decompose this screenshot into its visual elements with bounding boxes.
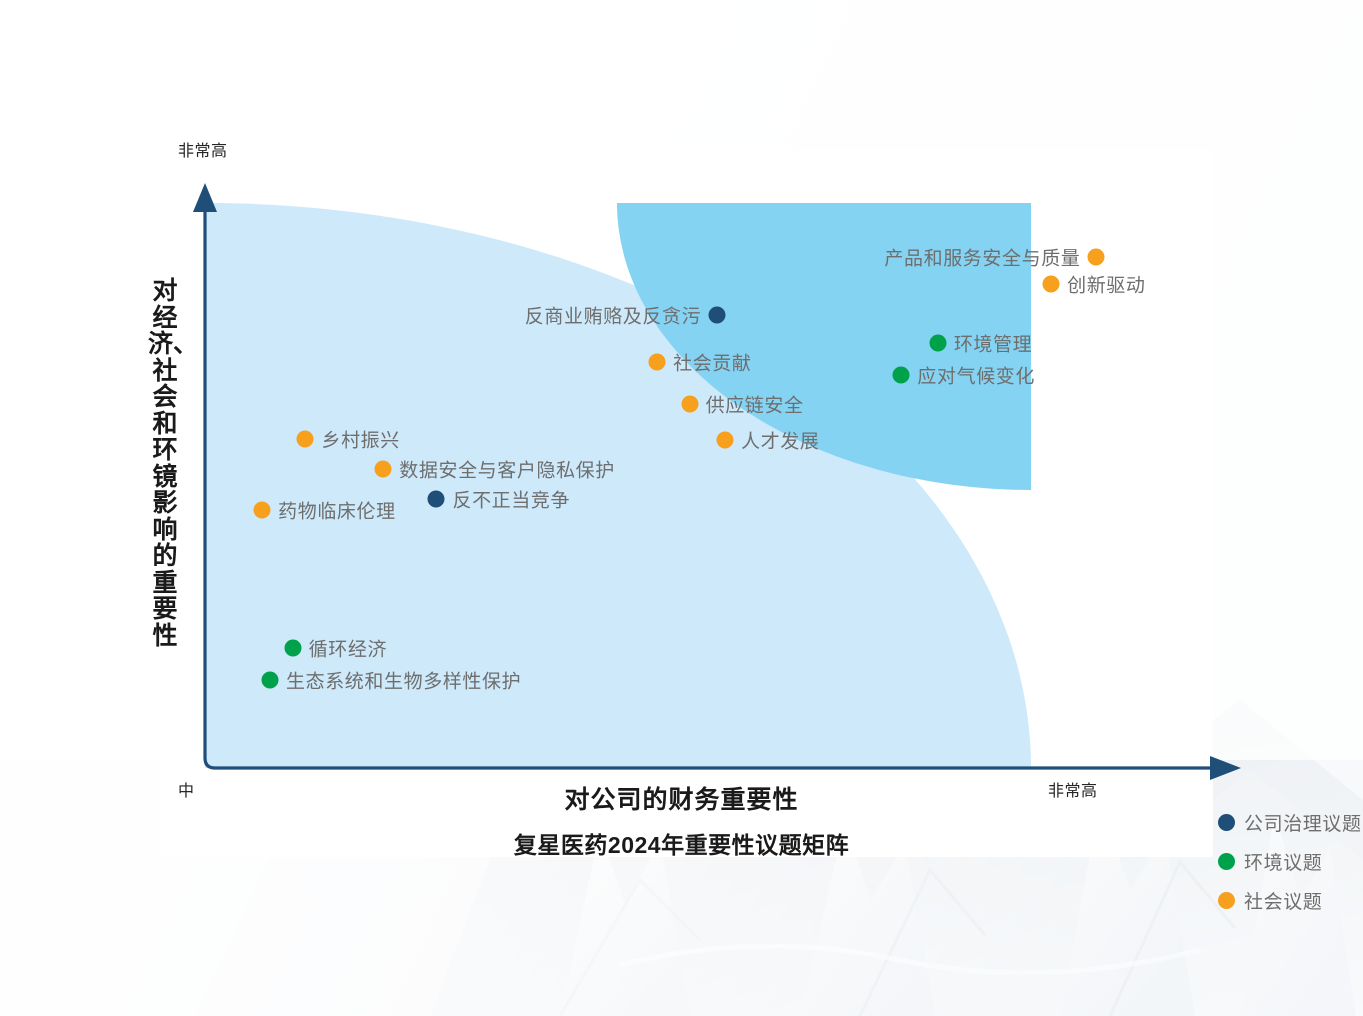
data-point-label: 反商业贿赂及反贪污 (525, 302, 701, 329)
x-axis-title: 对公司的财务重要性 (0, 780, 1363, 816)
data-point-marker[interactable] (284, 640, 301, 657)
data-point-label: 反不正当竞争 (452, 486, 570, 513)
data-point-marker[interactable] (428, 491, 445, 508)
data-point-marker[interactable] (649, 353, 666, 370)
data-point-label: 环境管理 (954, 330, 1032, 357)
legend-label: 社会议题 (1244, 887, 1322, 914)
data-point-marker[interactable] (1088, 248, 1105, 265)
data-point-marker[interactable] (893, 366, 910, 383)
legend-item-social[interactable]: 社会议题 (1218, 881, 1362, 920)
data-point-label: 药物临床伦理 (278, 497, 396, 524)
data-point-label: 社会贡献 (673, 348, 751, 375)
data-point-marker[interactable] (929, 335, 946, 352)
chart-card: 非常高 中 非常高 产品和服务安全与质量创新驱动反商业贿赂及反贪污环境管理应对气… (160, 150, 1213, 857)
data-point-label: 供应链安全 (706, 391, 804, 418)
x-axis-arrowhead (1210, 756, 1241, 780)
y-axis-arrowhead (193, 183, 217, 212)
data-point-marker[interactable] (681, 396, 698, 413)
data-point-marker[interactable] (1043, 276, 1060, 293)
data-point-label: 数据安全与客户隐私保护 (399, 455, 615, 482)
y-axis-max-label: 非常高 (178, 137, 228, 161)
data-point-marker[interactable] (709, 307, 726, 324)
data-point-label: 创新驱动 (1067, 271, 1145, 298)
data-point-marker[interactable] (717, 431, 734, 448)
data-point-label: 乡村振兴 (321, 425, 399, 452)
data-point-marker[interactable] (262, 671, 279, 688)
data-point-label: 产品和服务安全与质量 (884, 243, 1080, 270)
data-point-label: 循环经济 (309, 635, 387, 662)
data-point-marker[interactable] (297, 430, 314, 447)
slide-canvas: 非常高 中 非常高 产品和服务安全与质量创新驱动反商业贿赂及反贪污环境管理应对气… (0, 0, 1363, 1016)
data-point-marker[interactable] (254, 502, 271, 519)
chart-legend: 公司治理议题环境议题社会议题 (1218, 803, 1362, 920)
chart-title: 复星医药2024年重要性议题矩阵 (0, 826, 1363, 860)
data-point-label: 应对气候变化 (917, 361, 1035, 388)
legend-swatch-social (1218, 892, 1235, 909)
data-point-label: 人才发展 (741, 426, 819, 453)
data-point-marker[interactable] (375, 460, 392, 477)
y-axis-title: 对经济、社会和环镜影响的重要性 (148, 278, 182, 649)
data-point-label: 生态系统和生物多样性保护 (286, 666, 521, 693)
